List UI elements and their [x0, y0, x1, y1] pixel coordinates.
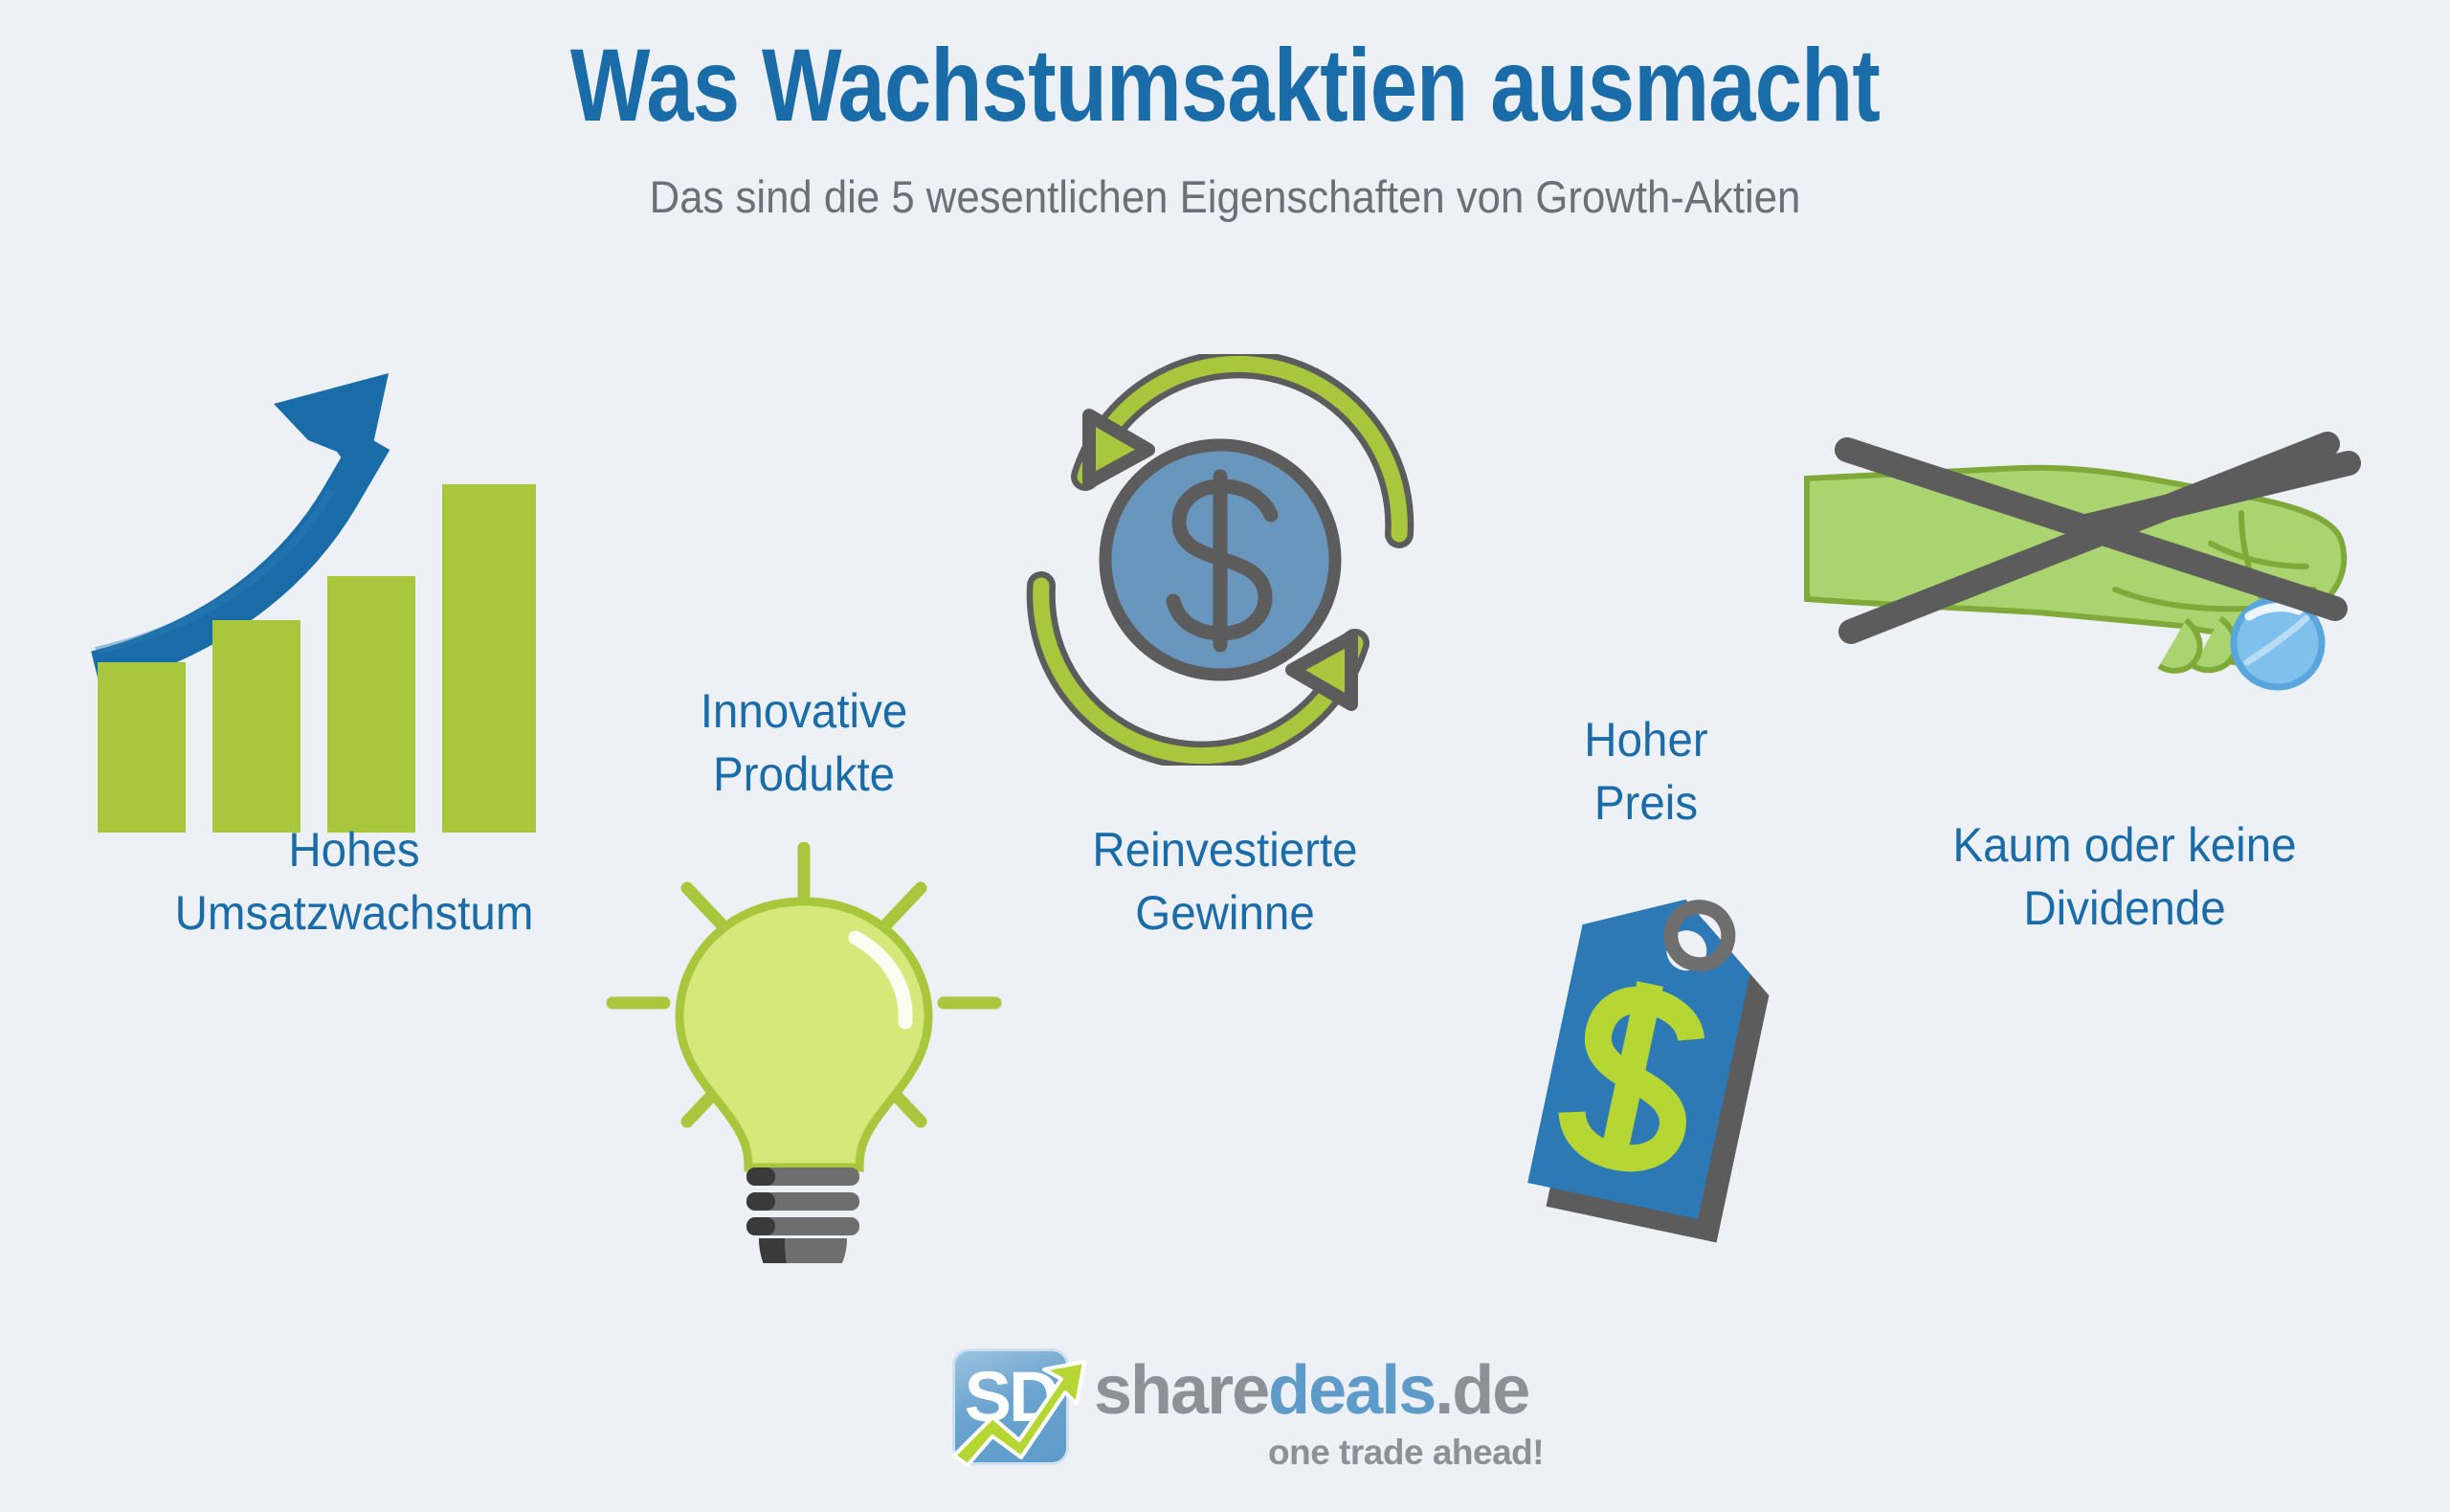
logo-word-share: share: [1094, 1352, 1268, 1429]
logo-word-deals: deals: [1268, 1352, 1435, 1429]
reinvest-label: Reinvestierte Gewinne: [1007, 818, 1443, 945]
no-dividend-label: Kaum oder keine Dividende: [1888, 813, 2361, 940]
hand-coin-crossed-out-icon: [1799, 421, 2373, 746]
price-tag-label: Hoher Preis: [1482, 708, 1810, 834]
page-subtitle: Das sind die 5 wesentlichen Eigenschafte…: [86, 170, 2365, 223]
infographic-canvas: Was Wachstumsaktien ausmacht Das sind di…: [0, 0, 2450, 1512]
logo-tagline: one trade ahead!: [1268, 1433, 1544, 1473]
logo-wordmark: sharedeals.de: [1094, 1356, 1528, 1425]
logo-word-tld: .de: [1435, 1352, 1528, 1429]
recycle-dollar-coin-icon: [1014, 354, 1426, 766]
sharedeals-logo[interactable]: SD sharedeals.de one trade ahead!: [952, 1345, 1526, 1483]
growth-label: Hohes Umsatzwachstum: [55, 818, 655, 945]
page-title: Was Wachstumsaktien ausmacht: [220, 29, 2229, 143]
logo-growth-arrow-icon: [948, 1348, 1092, 1479]
lightbulb-icon: [603, 842, 1005, 1263]
growth-bar-chart-arrow-icon: [86, 364, 603, 842]
price-tag-dollar-icon: [1488, 871, 1794, 1254]
bulb-label: Innovative Produkte: [586, 679, 1022, 806]
